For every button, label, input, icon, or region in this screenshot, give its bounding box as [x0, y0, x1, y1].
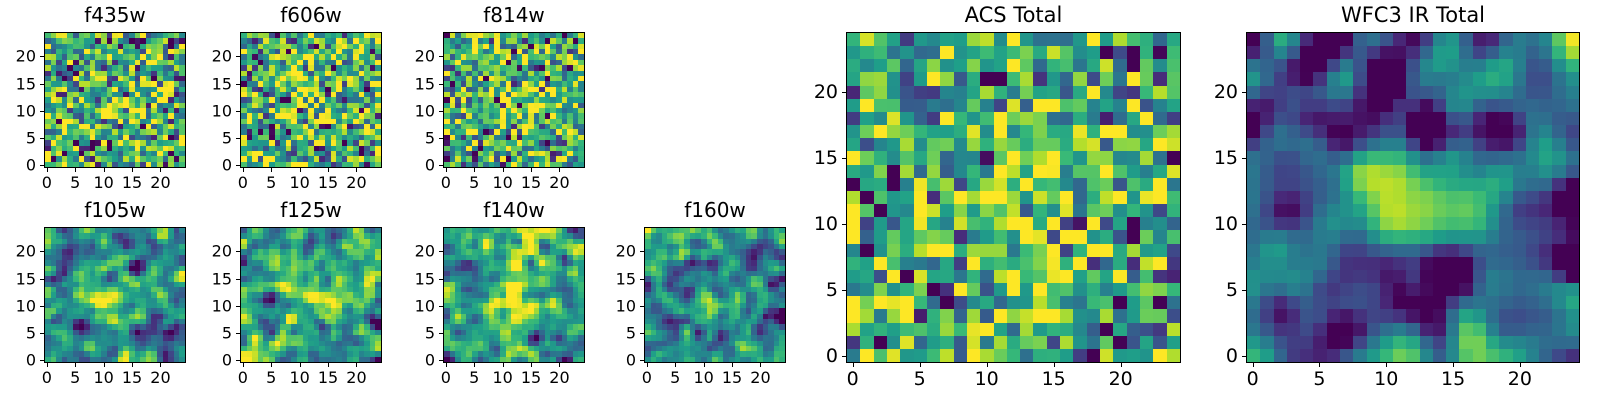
y-tick-label: 0 [584, 352, 636, 369]
pixel-grid-wfc3_ir_total [1247, 33, 1579, 362]
y-tick-mark [236, 56, 240, 57]
x-tick-label: 5 [914, 369, 926, 389]
x-tick-label: 15 [122, 174, 142, 191]
y-tick-mark [236, 138, 240, 139]
x-tick-mark [243, 363, 244, 367]
pixel-grid-f814w [444, 33, 584, 167]
x-tick-label: 10 [492, 174, 512, 191]
y-tick-label: 5 [0, 130, 36, 147]
y-tick-mark [640, 251, 644, 252]
y-tick-mark [236, 165, 240, 166]
x-tick-mark [987, 363, 988, 367]
x-tick-mark [300, 168, 301, 172]
x-tick-mark [104, 168, 105, 172]
y-tick-label: 10 [180, 102, 232, 119]
x-tick-mark [104, 363, 105, 367]
y-tick-label: 15 [0, 270, 36, 287]
x-tick-mark [760, 363, 761, 367]
y-tick-label: 20 [0, 243, 36, 260]
y-tick-label: 0 [1186, 346, 1238, 366]
y-tick-mark [640, 333, 644, 334]
x-tick-label: 5 [1313, 369, 1325, 389]
x-tick-mark [474, 363, 475, 367]
y-tick-mark [236, 251, 240, 252]
y-tick-label: 20 [1186, 82, 1238, 102]
panel-title-f140w: f140w [443, 199, 585, 221]
x-tick-mark [160, 168, 161, 172]
y-tick-mark [439, 111, 443, 112]
x-tick-label: 0 [238, 369, 248, 386]
x-tick-mark [75, 168, 76, 172]
x-tick-mark [446, 363, 447, 367]
x-tick-mark [559, 363, 560, 367]
y-tick-mark [40, 111, 44, 112]
panel-f814w: f814w0055101015152020 [383, 2, 585, 200]
x-tick-mark [559, 168, 560, 172]
x-tick-label: 5 [670, 369, 680, 386]
y-tick-label: 5 [1186, 280, 1238, 300]
x-tick-mark [704, 363, 705, 367]
x-tick-label: 0 [42, 174, 52, 191]
pixel-grid-acs_total [847, 33, 1180, 362]
x-tick-label: 15 [722, 369, 742, 386]
y-tick-label: 20 [786, 82, 838, 102]
pixel-grid-f140w [444, 228, 584, 362]
y-tick-mark [236, 333, 240, 334]
x-tick-mark [1319, 363, 1320, 367]
x-tick-label: 15 [521, 369, 541, 386]
x-tick-mark [160, 363, 161, 367]
panel-title-f125w: f125w [240, 199, 382, 221]
y-tick-label: 10 [180, 297, 232, 314]
y-tick-mark [40, 56, 44, 57]
x-tick-mark [1453, 363, 1454, 367]
x-tick-mark [503, 363, 504, 367]
pixel-grid-f105w [45, 228, 185, 362]
y-tick-mark [1242, 290, 1246, 291]
y-tick-label: 15 [786, 148, 838, 168]
y-tick-mark [439, 56, 443, 57]
x-tick-label: 5 [70, 174, 80, 191]
y-tick-label: 10 [1186, 214, 1238, 234]
x-tick-mark [474, 168, 475, 172]
y-tick-mark [236, 111, 240, 112]
x-tick-label: 20 [549, 174, 569, 191]
x-tick-mark [243, 168, 244, 172]
x-tick-label: 20 [549, 369, 569, 386]
x-tick-mark [271, 363, 272, 367]
image-axes-f814w [443, 32, 585, 168]
x-tick-label: 10 [1374, 369, 1398, 389]
image-axes-f606w [240, 32, 382, 168]
image-axes-f125w [240, 227, 382, 363]
x-tick-label: 15 [1042, 369, 1066, 389]
y-tick-label: 20 [180, 243, 232, 260]
x-tick-label: 10 [693, 369, 713, 386]
y-tick-mark [236, 279, 240, 280]
x-tick-mark [503, 168, 504, 172]
x-tick-label: 20 [750, 369, 770, 386]
image-axes-wfc3_ir_total [1246, 32, 1580, 363]
y-tick-mark [40, 279, 44, 280]
x-tick-label: 10 [93, 369, 113, 386]
x-tick-label: 0 [1247, 369, 1259, 389]
x-tick-label: 15 [318, 369, 338, 386]
panel-title-f160w: f160w [644, 199, 786, 221]
y-tick-label: 10 [786, 214, 838, 234]
panel-f140w: f140w0055101015152020 [383, 197, 585, 395]
x-tick-mark [300, 363, 301, 367]
image-axes-f140w [443, 227, 585, 363]
x-tick-label: 10 [975, 369, 999, 389]
x-tick-label: 0 [441, 369, 451, 386]
x-tick-mark [132, 363, 133, 367]
x-tick-label: 20 [346, 369, 366, 386]
y-tick-mark [842, 290, 846, 291]
panel-title-f105w: f105w [44, 199, 186, 221]
y-tick-mark [439, 138, 443, 139]
x-tick-mark [853, 363, 854, 367]
y-tick-label: 20 [0, 48, 36, 65]
panel-f435w: f435w0055101015152020 [0, 2, 186, 200]
panel-title-f606w: f606w [240, 4, 382, 26]
y-tick-label: 20 [180, 48, 232, 65]
x-tick-mark [328, 168, 329, 172]
y-tick-mark [439, 333, 443, 334]
y-tick-mark [439, 360, 443, 361]
panel-acs_total: ACS Total0055101015152020 [786, 2, 1181, 395]
image-axes-f435w [44, 32, 186, 168]
x-tick-label: 0 [642, 369, 652, 386]
y-tick-label: 5 [180, 130, 232, 147]
y-tick-mark [40, 333, 44, 334]
panel-wfc3_ir_total: WFC3 IR Total0055101015152020 [1186, 2, 1580, 395]
figure-canvas: f435w0055101015152020f606w00551010151520… [0, 0, 1600, 400]
y-tick-mark [640, 306, 644, 307]
x-tick-mark [75, 363, 76, 367]
y-tick-mark [236, 306, 240, 307]
y-tick-label: 10 [0, 102, 36, 119]
y-tick-mark [236, 360, 240, 361]
x-tick-mark [1054, 363, 1055, 367]
y-tick-mark [439, 279, 443, 280]
y-tick-mark [40, 165, 44, 166]
x-tick-mark [356, 363, 357, 367]
x-tick-label: 20 [1508, 369, 1532, 389]
y-tick-label: 15 [383, 270, 435, 287]
y-tick-label: 0 [0, 352, 36, 369]
x-tick-mark [356, 168, 357, 172]
y-tick-mark [1242, 356, 1246, 357]
x-tick-label: 5 [70, 369, 80, 386]
y-tick-label: 15 [383, 75, 435, 92]
y-tick-label: 0 [0, 157, 36, 174]
x-tick-label: 0 [238, 174, 248, 191]
pixel-grid-f606w [241, 33, 381, 167]
y-tick-mark [40, 360, 44, 361]
y-tick-label: 0 [383, 352, 435, 369]
y-tick-label: 10 [0, 297, 36, 314]
y-tick-label: 20 [383, 48, 435, 65]
pixel-grid-f160w [645, 228, 785, 362]
y-tick-mark [40, 251, 44, 252]
y-tick-label: 5 [383, 130, 435, 147]
x-tick-label: 20 [346, 174, 366, 191]
y-tick-label: 5 [0, 325, 36, 342]
y-tick-label: 10 [383, 102, 435, 119]
y-tick-label: 0 [383, 157, 435, 174]
y-tick-label: 0 [180, 352, 232, 369]
y-tick-mark [439, 84, 443, 85]
x-tick-label: 15 [318, 174, 338, 191]
panel-f105w: f105w0055101015152020 [0, 197, 186, 395]
x-tick-label: 5 [266, 174, 276, 191]
y-tick-label: 10 [383, 297, 435, 314]
x-tick-mark [920, 363, 921, 367]
image-axes-f105w [44, 227, 186, 363]
y-tick-mark [842, 92, 846, 93]
y-tick-label: 5 [180, 325, 232, 342]
x-tick-mark [675, 363, 676, 367]
x-tick-label: 15 [521, 174, 541, 191]
x-tick-mark [47, 363, 48, 367]
y-tick-mark [640, 360, 644, 361]
y-tick-mark [842, 356, 846, 357]
x-tick-label: 15 [122, 369, 142, 386]
x-tick-label: 10 [289, 174, 309, 191]
x-tick-mark [1386, 363, 1387, 367]
y-tick-mark [40, 84, 44, 85]
x-tick-label: 0 [847, 369, 859, 389]
panel-f125w: f125w0055101015152020 [180, 197, 382, 395]
y-tick-mark [842, 224, 846, 225]
x-tick-label: 5 [266, 369, 276, 386]
x-tick-mark [271, 168, 272, 172]
x-tick-label: 10 [289, 369, 309, 386]
panel-title-f435w: f435w [44, 4, 186, 26]
y-tick-mark [842, 158, 846, 159]
x-tick-mark [446, 168, 447, 172]
x-tick-label: 15 [1441, 369, 1465, 389]
panel-title-wfc3_ir_total: WFC3 IR Total [1246, 4, 1580, 27]
y-tick-label: 15 [0, 75, 36, 92]
panel-f160w: f160w0055101015152020 [584, 197, 786, 395]
x-tick-mark [328, 363, 329, 367]
x-tick-label: 0 [441, 174, 451, 191]
x-tick-mark [732, 363, 733, 367]
x-tick-mark [647, 363, 648, 367]
x-tick-mark [1121, 363, 1122, 367]
x-tick-label: 5 [469, 369, 479, 386]
y-tick-label: 0 [180, 157, 232, 174]
pixel-grid-f435w [45, 33, 185, 167]
y-tick-label: 5 [383, 325, 435, 342]
y-tick-mark [640, 279, 644, 280]
x-tick-mark [531, 168, 532, 172]
y-tick-mark [439, 165, 443, 166]
y-tick-mark [236, 84, 240, 85]
x-tick-label: 5 [469, 174, 479, 191]
y-tick-mark [40, 138, 44, 139]
panel-title-f814w: f814w [443, 4, 585, 26]
y-tick-label: 15 [180, 270, 232, 287]
pixel-grid-f125w [241, 228, 381, 362]
y-tick-label: 0 [786, 346, 838, 366]
y-tick-label: 5 [786, 280, 838, 300]
y-tick-label: 10 [584, 297, 636, 314]
y-tick-mark [40, 306, 44, 307]
x-tick-mark [531, 363, 532, 367]
x-tick-label: 20 [1109, 369, 1133, 389]
x-tick-label: 20 [150, 369, 170, 386]
x-tick-mark [47, 168, 48, 172]
x-tick-label: 0 [42, 369, 52, 386]
x-tick-mark [132, 168, 133, 172]
x-tick-label: 10 [492, 369, 512, 386]
image-axes-acs_total [846, 32, 1181, 363]
y-tick-mark [1242, 92, 1246, 93]
image-axes-f160w [644, 227, 786, 363]
panel-f606w: f606w0055101015152020 [180, 2, 382, 200]
y-tick-mark [439, 306, 443, 307]
y-tick-label: 15 [180, 75, 232, 92]
x-tick-label: 10 [93, 174, 113, 191]
x-tick-label: 20 [150, 174, 170, 191]
panel-title-acs_total: ACS Total [846, 4, 1181, 27]
y-tick-label: 20 [584, 243, 636, 260]
y-tick-mark [439, 251, 443, 252]
y-tick-label: 15 [584, 270, 636, 287]
y-tick-mark [1242, 158, 1246, 159]
y-tick-label: 15 [1186, 148, 1238, 168]
y-tick-mark [1242, 224, 1246, 225]
x-tick-mark [1253, 363, 1254, 367]
y-tick-label: 5 [584, 325, 636, 342]
x-tick-mark [1520, 363, 1521, 367]
y-tick-label: 20 [383, 243, 435, 260]
